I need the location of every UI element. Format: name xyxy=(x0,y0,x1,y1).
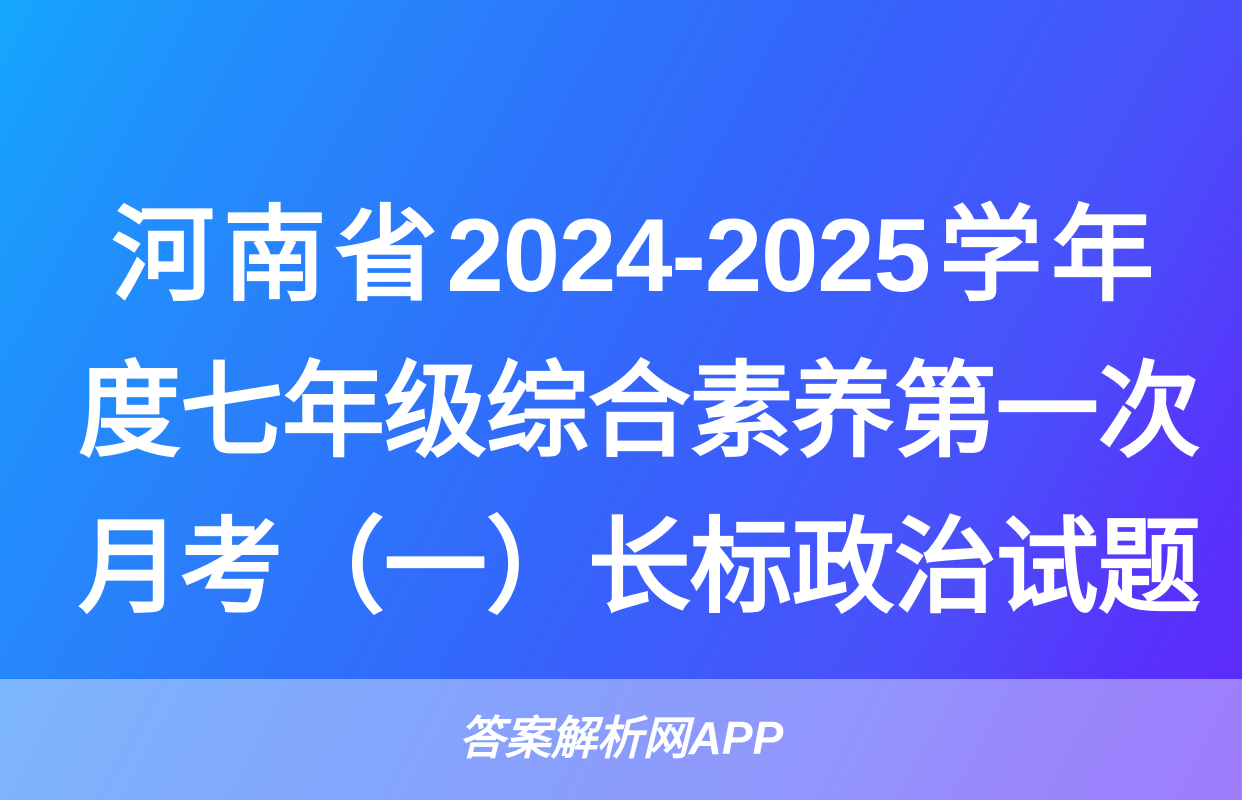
title-line-1: 河南省2024-2025学年 xyxy=(78,178,1153,334)
title-line-2: 度七年级综合素养第一次 xyxy=(78,334,1153,490)
exam-cover-card: 河南省2024-2025学年 度七年级综合素养第一次 月考（一）长标政治试题 答… xyxy=(0,0,1242,800)
title-block: 河南省2024-2025学年 度七年级综合素养第一次 月考（一）长标政治试题 xyxy=(78,178,1164,646)
watermark-brand-text: 答案解析网APP xyxy=(459,715,784,761)
watermark-band: 答案解析网APP xyxy=(0,679,1242,800)
title-line-3: 月考（一）长标政治试题 xyxy=(78,490,1153,646)
